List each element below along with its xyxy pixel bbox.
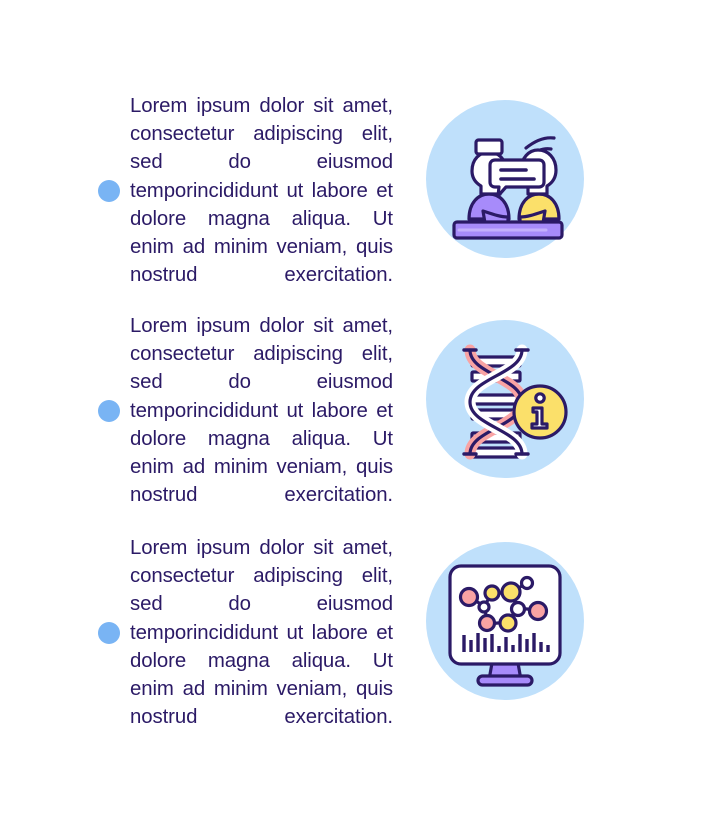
illustration-monitor <box>426 542 584 700</box>
list-item: Lorem ipsum dolor sit amet, consectetur … <box>0 78 720 300</box>
paragraph-text: Lorem ipsum dolor sit amet, consectetur … <box>130 534 393 731</box>
list-item: Lorem ipsum dolor sit amet, consectetur … <box>0 298 720 520</box>
page-root: Lorem ipsum dolor sit amet, consectetur … <box>0 0 720 822</box>
list-item: Lorem ipsum dolor sit amet, consectetur … <box>0 520 720 742</box>
molecular-analysis-monitor-icon <box>426 542 584 700</box>
paragraph-text: Lorem ipsum dolor sit amet, consectetur … <box>130 92 393 289</box>
content-rows: Lorem ipsum dolor sit amet, consectetur … <box>0 0 720 822</box>
dna-information-icon <box>426 320 584 478</box>
illustration-consultation <box>426 100 584 258</box>
illustration-dna <box>426 320 584 478</box>
paragraph-text: Lorem ipsum dolor sit amet, consectetur … <box>130 312 393 509</box>
bullet-point-icon <box>98 622 120 644</box>
bullet-point-icon <box>98 400 120 422</box>
bullet-point-icon <box>98 180 120 202</box>
consultation-conversation-icon <box>426 100 584 258</box>
